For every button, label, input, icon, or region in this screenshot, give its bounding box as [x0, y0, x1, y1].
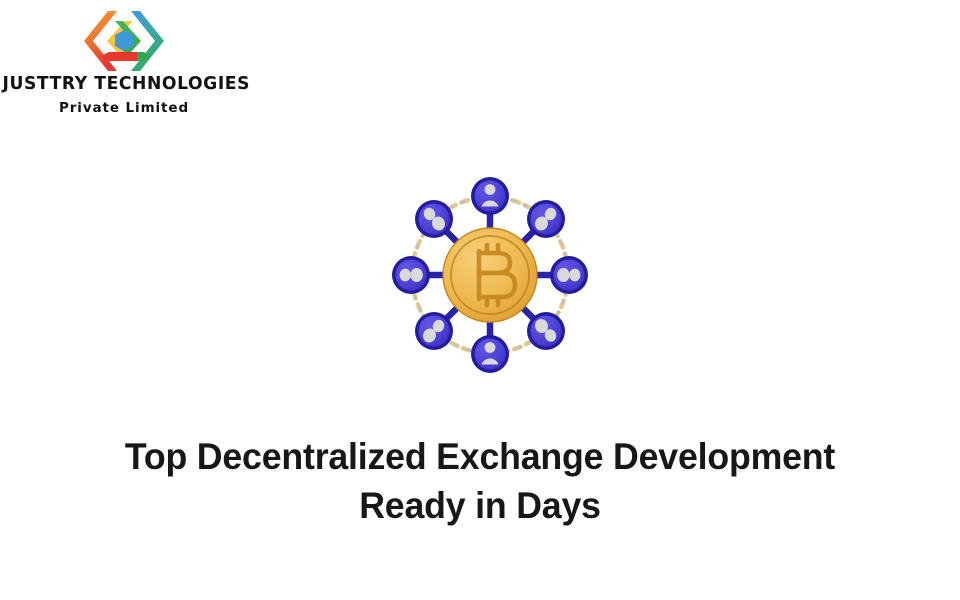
justtry-hexagon-logo-icon	[69, 8, 179, 74]
brand-subtitle: Private Limited	[0, 102, 248, 116]
network-node-top-left	[415, 200, 453, 238]
brand-name: JUSTTRY TECHNOLOGIES	[2, 76, 245, 94]
network-node-bottom-right	[527, 312, 565, 350]
network-node-bottom	[471, 335, 509, 373]
page-title-line-2: Ready in Days	[75, 481, 886, 530]
page-title-line-1: Top Decentralized Exchange Development	[75, 432, 886, 481]
network-node-top	[471, 177, 509, 215]
bitcoin-coin	[443, 228, 537, 322]
page-title: Top Decentralized Exchange Development R…	[60, 432, 900, 530]
network-node-left	[392, 256, 430, 294]
decentralized-exchange-network-illustration	[378, 163, 602, 387]
brand-logo-block: JUSTTRY TECHNOLOGIES Private Limited	[0, 4, 248, 124]
page-canvas: JUSTTRY TECHNOLOGIES Private Limited	[0, 0, 960, 600]
network-node-right	[550, 256, 588, 294]
network-node-bottom-left	[415, 312, 453, 350]
network-node-top-right	[527, 200, 565, 238]
